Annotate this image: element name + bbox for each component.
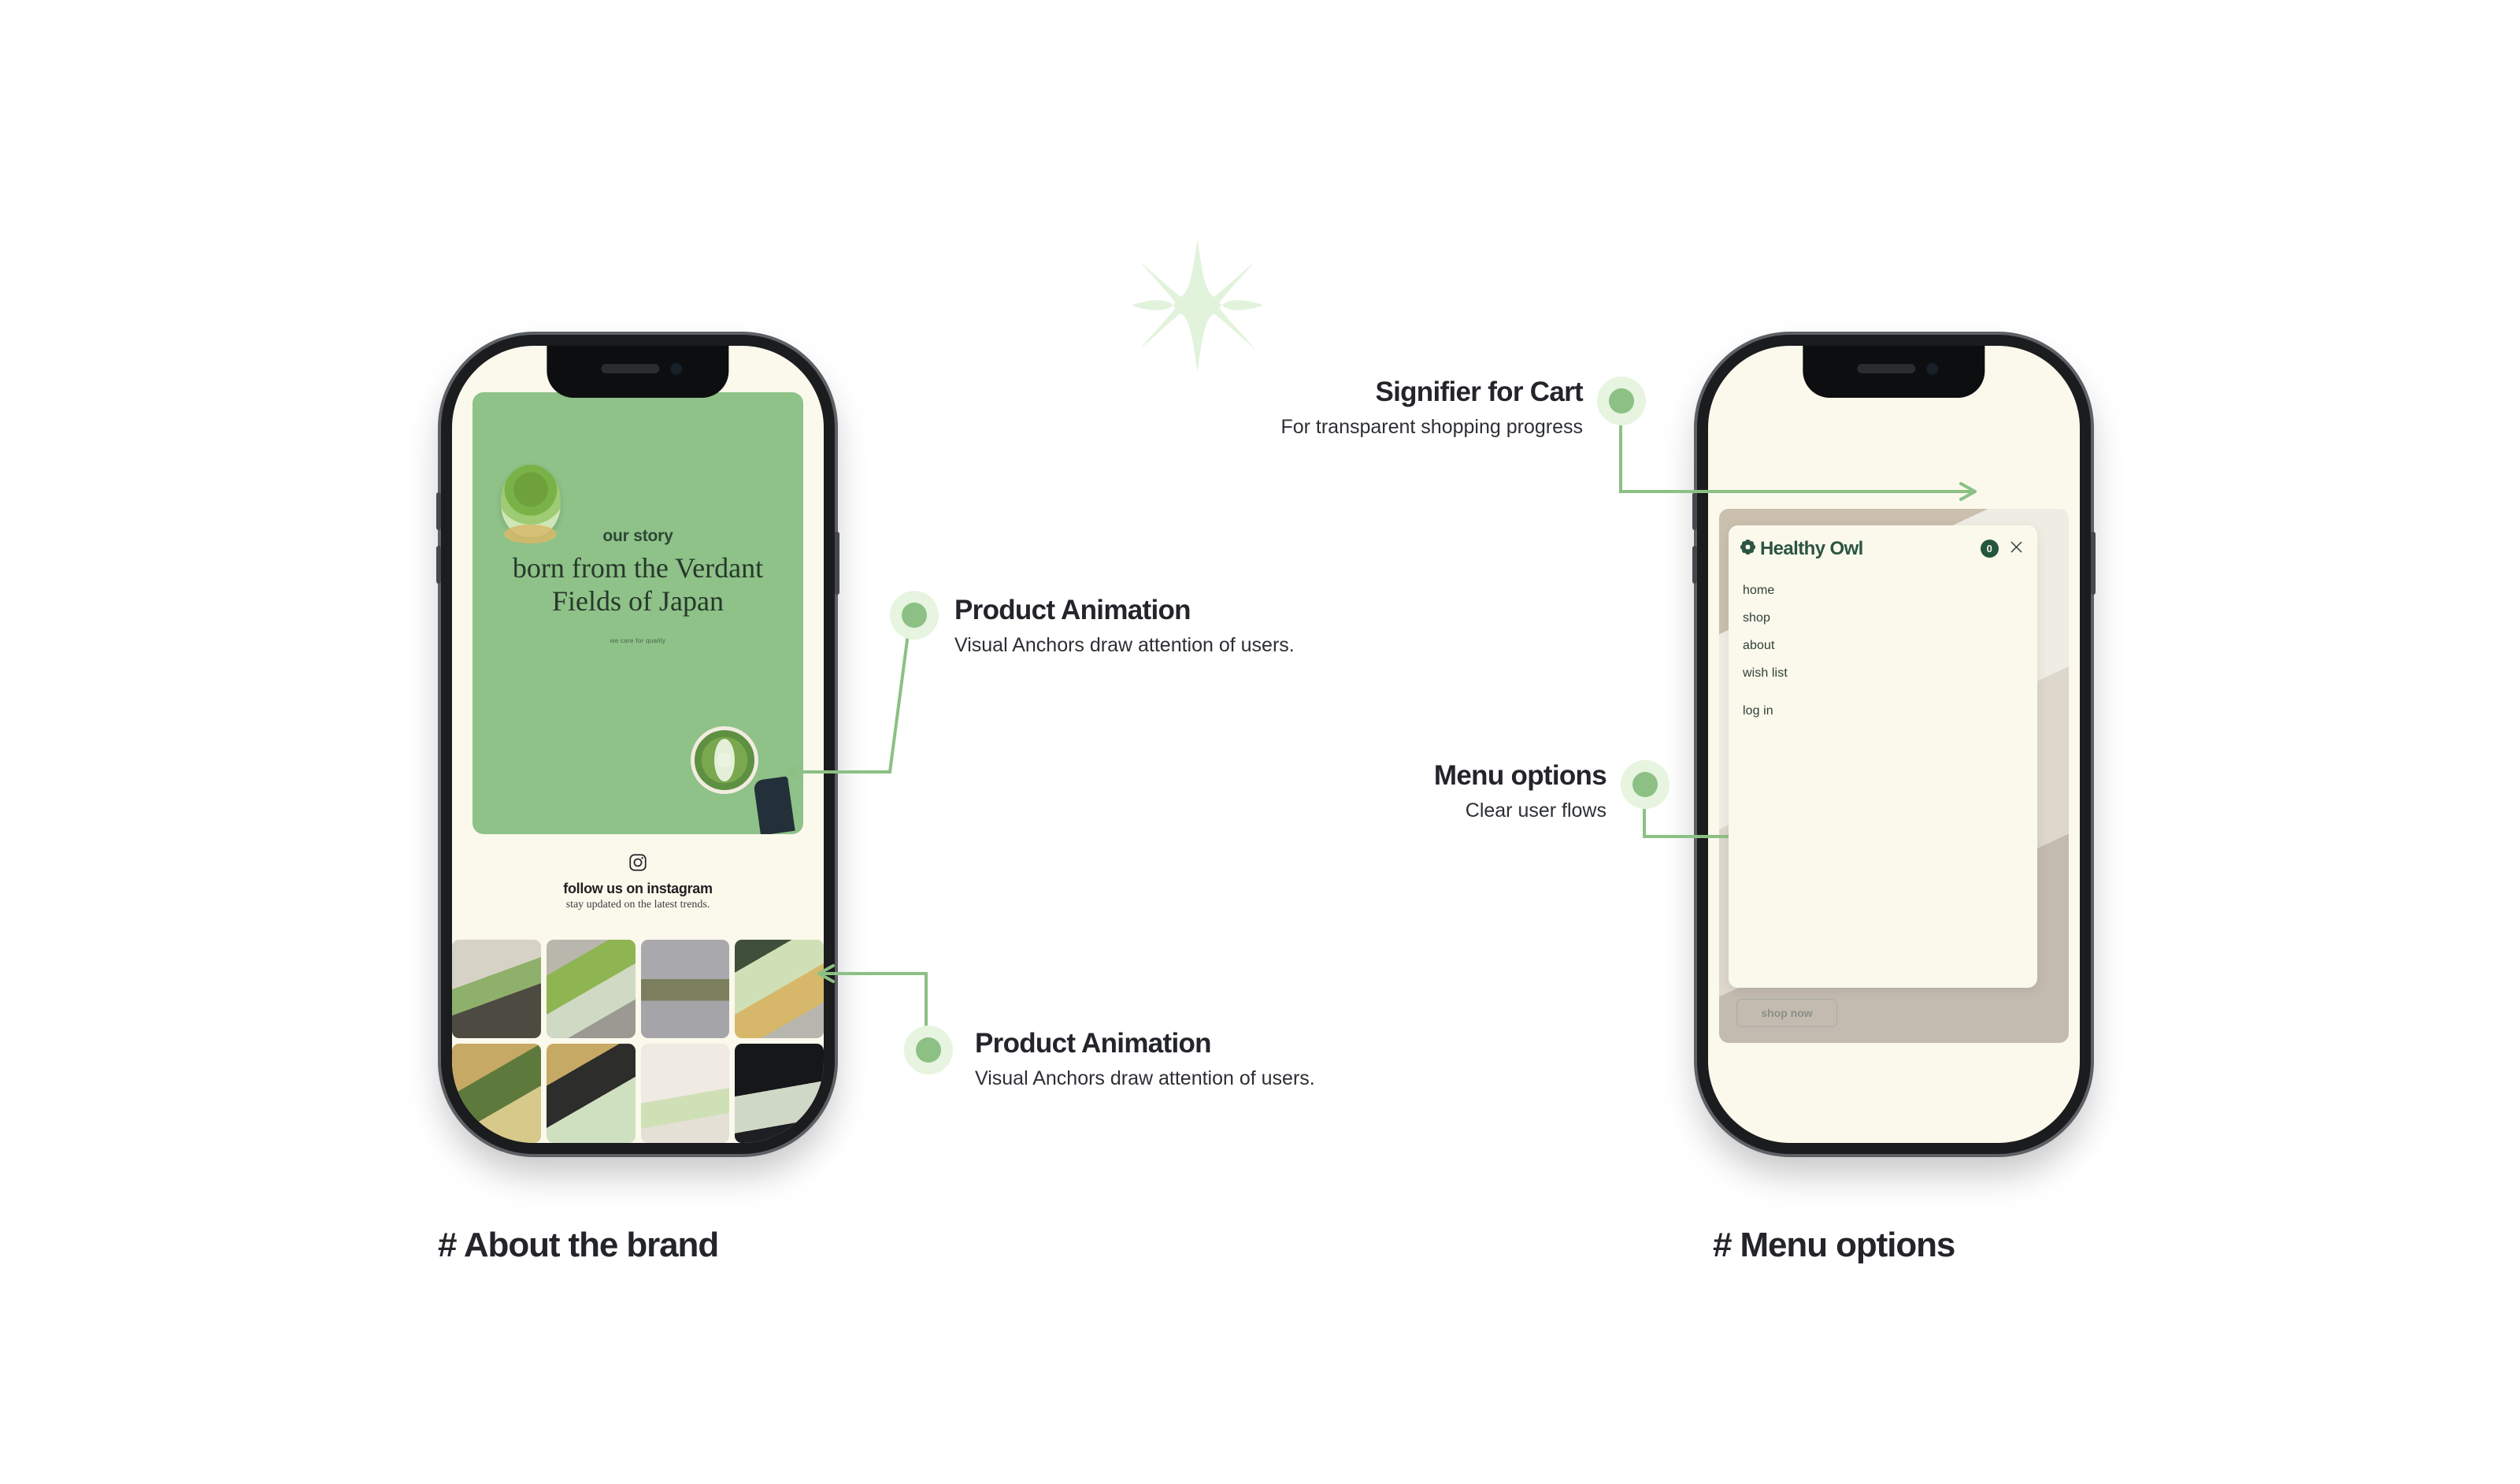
hand-holding-latte-image (691, 726, 784, 830)
instagram-tile[interactable] (452, 940, 541, 1039)
story-kicker: our story (472, 527, 803, 546)
instagram-tile[interactable] (641, 940, 730, 1039)
instagram-subtitle: stay updated on the latest trends. (452, 899, 824, 911)
annotation-title: Signifier for Cart (1181, 377, 1583, 408)
menu-item-shop[interactable]: shop (1743, 611, 2037, 625)
latte-cup (691, 726, 758, 794)
annotation-dot-core (916, 1037, 941, 1063)
annotation-body: Clear user flows (1228, 798, 1606, 824)
instagram-tile[interactable] (547, 1044, 636, 1143)
left-panel-caption: # About the brand (438, 1226, 718, 1265)
phone-speaker (602, 364, 660, 373)
menu-item-wish-list[interactable]: wish list (1743, 666, 2037, 681)
connector-line-signifier-for-cart (1599, 394, 2008, 520)
annotation-dot-core (902, 603, 927, 628)
phone-camera (1927, 363, 1939, 375)
instagram-tile[interactable] (452, 1044, 541, 1143)
menu-item-home[interactable]: home (1743, 584, 2037, 598)
phone-volume-buttons (1692, 546, 1697, 584)
latte-art-leaf (714, 739, 735, 781)
phone-notch (547, 346, 728, 398)
annotation-body: Visual Anchors draw attention of users. (954, 633, 1364, 659)
menu-header: Healthy Owl 0 (1729, 525, 2037, 560)
annotation-menu-options: Menu options Clear user flows (1228, 760, 1606, 824)
annotation-dot-menu-options[interactable] (1621, 760, 1669, 809)
phone-notch (1803, 346, 1984, 398)
annotation-product-animation-1: Product Animation Visual Anchors draw at… (954, 595, 1364, 659)
annotation-dot-core (1609, 388, 1634, 414)
instagram-icon[interactable] (628, 852, 648, 873)
menu-item-log-in[interactable]: log in (1743, 704, 2037, 718)
cart-count-badge[interactable]: 0 (1981, 540, 1999, 558)
annotation-dot-product-animation-2[interactable] (904, 1026, 953, 1074)
annotation-title: Menu options (1228, 760, 1606, 792)
instagram-tile[interactable] (641, 1044, 730, 1143)
menu-items-list: home shop about wish list log in (1729, 560, 2037, 718)
phone-volume-buttons (436, 492, 441, 530)
story-headline: born from the Verdant Fields of Japan (472, 551, 803, 618)
instagram-title: follow us on instagram (452, 881, 824, 897)
menu-header-actions: 0 (1981, 539, 2025, 559)
left-phone-screen: our story born from the Verdant Fields o… (452, 346, 824, 1143)
phone-speaker (1858, 364, 1916, 373)
annotation-dot-product-animation-1[interactable] (890, 591, 939, 640)
annotation-product-animation-2: Product Animation Visual Anchors draw at… (975, 1028, 1384, 1092)
close-icon[interactable] (2008, 539, 2025, 559)
phone-volume-buttons (436, 546, 441, 584)
menu-overlay-panel: Healthy Owl 0 home shop about (1729, 525, 2037, 988)
shop-now-button[interactable]: shop now (1736, 999, 1836, 1027)
our-story-card: our story born from the Verdant Fields o… (472, 392, 803, 835)
story-subtext: we care for quality (472, 637, 803, 644)
flower-logo-icon (1740, 539, 1756, 559)
annotation-body: For transparent shopping progress (1181, 414, 1583, 440)
sparkle-star-icon (1128, 236, 1266, 374)
brand-lockup: Healthy Owl (1740, 538, 1863, 560)
instagram-follow-block: follow us on instagram stay updated on t… (452, 852, 824, 911)
slide-canvas: our story born from the Verdant Fields o… (0, 0, 2520, 1484)
annotation-dot-signifier-for-cart[interactable] (1597, 377, 1646, 425)
story-text-block: our story born from the Verdant Fields o… (472, 527, 803, 644)
brand-name: Healthy Owl (1760, 538, 1863, 560)
instagram-photo-grid (452, 940, 824, 1143)
phone-power-button (2091, 532, 2096, 595)
annotation-dot-core (1632, 772, 1658, 797)
instagram-tile[interactable] (547, 940, 636, 1039)
annotation-signifier-for-cart: Signifier for Cart For transparent shopp… (1181, 377, 1583, 440)
annotation-title: Product Animation (975, 1028, 1384, 1059)
menu-item-about[interactable]: about (1743, 639, 2037, 653)
phone-camera (671, 363, 683, 375)
annotation-body: Visual Anchors draw attention of users. (975, 1066, 1384, 1092)
annotation-title: Product Animation (954, 595, 1364, 626)
right-panel-caption: # Menu options (1713, 1226, 1955, 1265)
connector-line-product-animation-1 (772, 583, 976, 803)
